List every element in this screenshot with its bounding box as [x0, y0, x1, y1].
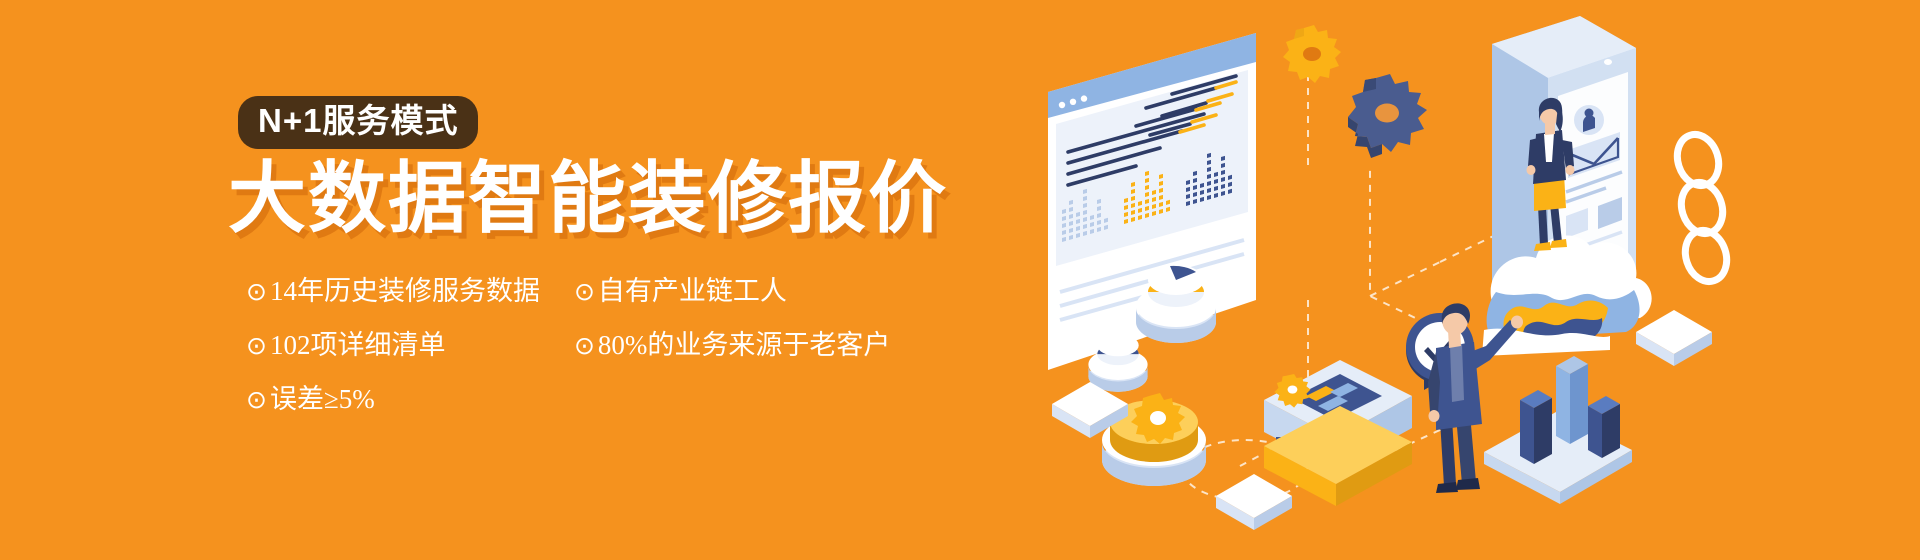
bullet-marker-icon: ⊙ — [574, 280, 595, 305]
feature-bullet-list: ⊙ 14年历史装修服务数据 ⊙ 102项详细清单 ⊙ 误差≥5% ⊙ 自有产业链… — [246, 278, 890, 440]
bullet-label: 80%的业务来源于老客户 — [598, 332, 891, 359]
bullet-label: 14年历史装修服务数据 — [270, 278, 540, 305]
bullet-column-left: ⊙ 14年历史装修服务数据 ⊙ 102项详细清单 ⊙ 误差≥5% — [246, 278, 540, 440]
server-stack — [1264, 360, 1412, 506]
bullet-item: ⊙ 14年历史装修服务数据 — [246, 278, 540, 305]
rings — [1671, 129, 1733, 287]
bullet-label: 误差≥5% — [270, 386, 375, 413]
bullet-item: ⊙ 自有产业链工人 — [574, 278, 890, 305]
banner-text-block: N+1服务模式 大数据智能装修报价 ⊙ 14年历史装修服务数据 ⊙ 102项详细… — [0, 0, 1020, 560]
gear-yellow — [1283, 25, 1341, 83]
service-model-badge: N+1服务模式 — [238, 96, 478, 149]
bullet-item: ⊙ 80%的业务来源于老客户 — [574, 332, 890, 359]
banner-headline: 大数据智能装修报价 — [228, 160, 948, 238]
bullet-label: 自有产业链工人 — [598, 278, 787, 305]
bullet-marker-icon: ⊙ — [246, 334, 267, 359]
promo-banner: N+1服务模式 大数据智能装修报价 ⊙ 14年历史装修服务数据 ⊙ 102项详细… — [0, 0, 1920, 560]
bullet-marker-icon: ⊙ — [246, 388, 267, 413]
bullet-marker-icon: ⊙ — [574, 334, 595, 359]
bullet-column-right: ⊙ 自有产业链工人 ⊙ 80%的业务来源于老客户 — [574, 278, 890, 440]
bullet-marker-icon: ⊙ — [246, 280, 267, 305]
tile-right — [1636, 310, 1712, 366]
bullet-item: ⊙ 102项详细清单 — [246, 332, 540, 359]
isometric-illustration — [1040, 0, 1920, 560]
tile-bottom — [1216, 474, 1292, 530]
bullet-item: ⊙ 误差≥5% — [246, 386, 540, 413]
gear-navy — [1348, 74, 1427, 158]
bar-chart-pillars — [1484, 356, 1632, 504]
bullet-label: 102项详细清单 — [270, 332, 446, 359]
